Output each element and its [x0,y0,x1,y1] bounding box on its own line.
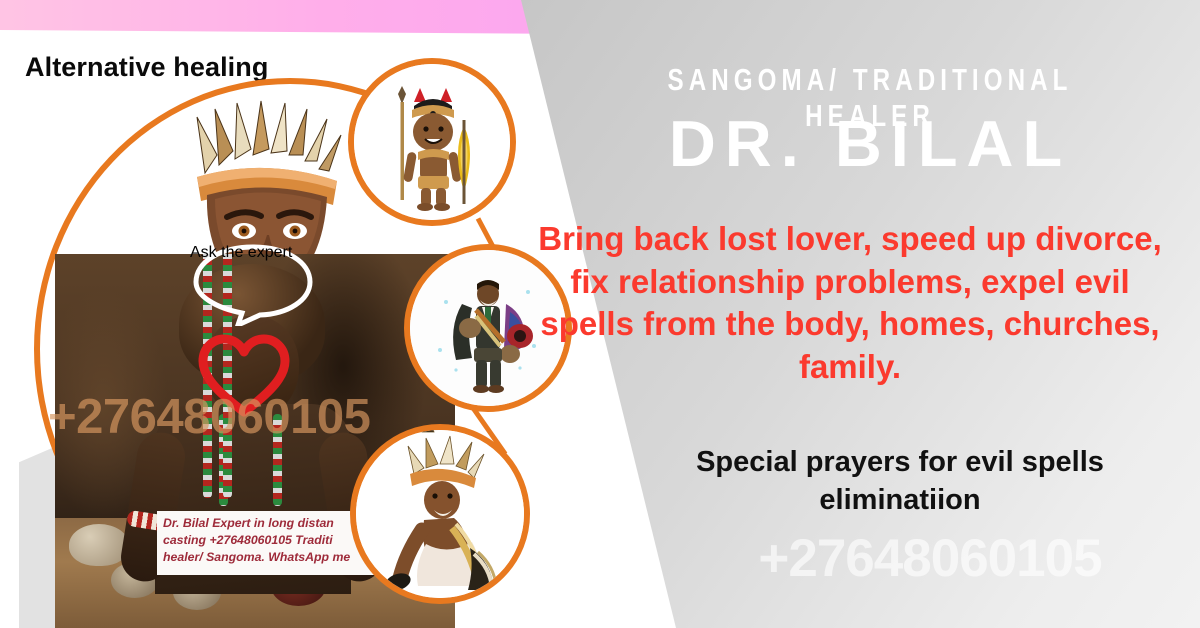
speech-bubble-icon [190,244,316,326]
caption-line: healer/ Sangoma. WhatsApp me [163,549,390,566]
page-title: Alternative healing [25,52,268,83]
services-text: Bring back lost lover, speed up divorce,… [528,218,1172,388]
zulu-warrior-illustration [354,64,510,220]
healer-name: DR. BILAL [560,106,1180,181]
prayers-text: Special prayers for evil spells eliminat… [620,444,1180,519]
traditional-dancer-illustration [356,430,524,598]
circle-image-warrior [348,58,516,226]
top-bar-pink [0,0,600,34]
photo-watermark-phone: +27648060105 [48,389,370,445]
poster-canvas: Alternative healing [0,0,1200,628]
circle-image-dancer [350,424,530,604]
phone-watermark: +27648060105 [660,528,1200,589]
